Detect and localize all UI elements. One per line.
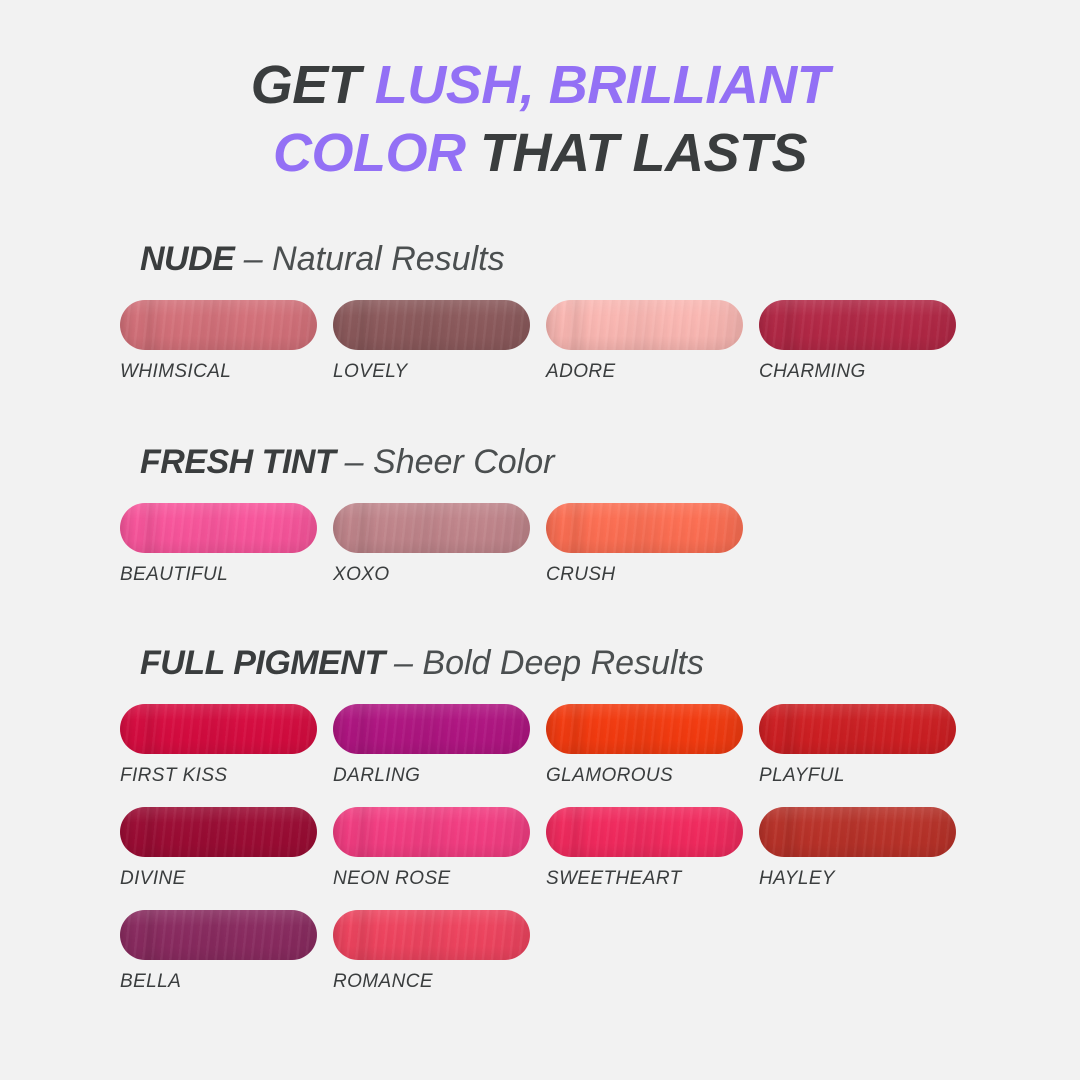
section-nude: NUDE – Natural Results WHIMSICAL LOVELY … [120,242,1020,403]
swatch-cell-sweetheart[interactable]: SWEETHEART [546,807,743,890]
swatch-label: HAYLEY [759,868,956,890]
swatch-label: FIRST KISS [120,765,317,787]
swatch-label: CHARMING [759,361,956,383]
swatch-label: ROMANCE [333,971,530,993]
swatch-sheen-overlay [120,910,317,960]
swatch-label: DIVINE [120,868,317,890]
section-title-full-pigment: FULL PIGMENT – Bold Deep Results [140,646,1020,680]
swatch-cell-romance[interactable]: ROMANCE [333,910,530,993]
swatch-cell-whimsical[interactable]: WHIMSICAL [120,300,317,383]
color-swatch[interactable] [333,910,530,960]
section-fresh-tint: FRESH TINT – Sheer Color BEAUTIFUL XOXO … [120,445,1020,606]
headline-word-get: GET [251,55,375,115]
color-swatch[interactable] [120,300,317,350]
color-swatch[interactable] [120,704,317,754]
color-swatch[interactable] [546,300,743,350]
color-swatch[interactable] [333,807,530,857]
swatch-label: ADORE [546,361,743,383]
swatch-cell-neon-rose[interactable]: NEON ROSE [333,807,530,890]
color-swatch[interactable] [120,807,317,857]
swatch-sheen-overlay [333,704,530,754]
swatch-cell-lovely[interactable]: LOVELY [333,300,530,383]
swatch-row: FIRST KISS DARLING GLAMOROUS PLAYFUL [120,704,1020,787]
section-separator: – [335,443,373,481]
color-swatch[interactable] [333,300,530,350]
swatch-cell-glamorous[interactable]: GLAMOROUS [546,704,743,787]
section-category-label: FULL PIGMENT [140,644,385,682]
section-full-pigment: FULL PIGMENT – Bold Deep Results FIRST K… [120,646,1020,1013]
section-description-label: Natural Results [272,240,504,278]
swatch-sheen-overlay [333,300,530,350]
swatch-label: NEON ROSE [333,868,530,890]
swatch-cell-hayley[interactable]: HAYLEY [759,807,956,890]
color-swatch[interactable] [759,704,956,754]
swatch-cell-crush[interactable]: CRUSH [546,503,743,586]
section-category-label: FRESH TINT [140,443,335,481]
swatch-sheen-overlay [120,300,317,350]
swatch-label: GLAMOROUS [546,765,743,787]
swatch-cell-playful[interactable]: PLAYFUL [759,704,956,787]
swatch-sheen-overlay [120,807,317,857]
color-swatch[interactable] [120,503,317,553]
color-swatch[interactable] [759,807,956,857]
swatch-cell-first-kiss[interactable]: FIRST KISS [120,704,317,787]
swatch-label: BEAUTIFUL [120,564,317,586]
swatch-label: WHIMSICAL [120,361,317,383]
color-swatch[interactable] [333,503,530,553]
swatch-sheen-overlay [546,704,743,754]
swatch-label: SWEETHEART [546,868,743,890]
swatch-sheen-overlay [759,300,956,350]
section-description-label: Sheer Color [373,443,554,481]
swatch-label: LOVELY [333,361,530,383]
swatch-label: CRUSH [546,564,743,586]
swatch-row: WHIMSICAL LOVELY ADORE CHARMING [120,300,1020,383]
swatch-sheen-overlay [759,807,956,857]
swatch-sheen-overlay [333,807,530,857]
color-swatch[interactable] [759,300,956,350]
swatch-label: XOXO [333,564,530,586]
section-separator: – [234,240,272,278]
page-headline: GET LUSH, BRILLIANT COLOR THAT LASTS [0,52,1080,187]
section-category-label: NUDE [140,240,234,278]
swatch-row: DIVINE NEON ROSE SWEETHEART HAYLEY [120,807,1020,890]
swatch-cell-beautiful[interactable]: BEAUTIFUL [120,503,317,586]
swatch-row: BEAUTIFUL XOXO CRUSH [120,503,1020,586]
headline-line-2: COLOR THAT LASTS [0,120,1080,188]
headline-words-that-lasts: THAT LASTS [480,123,807,183]
section-title-nude: NUDE – Natural Results [140,242,1020,276]
color-swatch[interactable] [333,704,530,754]
headline-line-1: GET LUSH, BRILLIANT [0,52,1080,120]
lipstick-shade-chart: GET LUSH, BRILLIANT COLOR THAT LASTS NUD… [0,0,1080,1080]
swatch-cell-darling[interactable]: DARLING [333,704,530,787]
swatch-label: DARLING [333,765,530,787]
headline-accent-lush-brilliant: LUSH, BRILLIANT [375,55,829,115]
swatch-row: BELLA ROMANCE [120,910,1020,993]
swatch-cell-divine[interactable]: DIVINE [120,807,317,890]
headline-accent-color: COLOR [273,123,480,183]
swatch-cell-bella[interactable]: BELLA [120,910,317,993]
color-swatch[interactable] [546,704,743,754]
swatch-sheen-overlay [546,300,743,350]
swatch-cell-charming[interactable]: CHARMING [759,300,956,383]
swatch-sheen-overlay [333,503,530,553]
color-swatch[interactable] [546,807,743,857]
swatch-sheen-overlay [333,910,530,960]
swatch-sheen-overlay [120,503,317,553]
color-swatch[interactable] [120,910,317,960]
section-description-label: Bold Deep Results [422,644,704,682]
swatch-label: PLAYFUL [759,765,956,787]
section-separator: – [385,644,423,682]
color-swatch[interactable] [546,503,743,553]
swatch-label: BELLA [120,971,317,993]
swatch-sheen-overlay [120,704,317,754]
section-title-fresh-tint: FRESH TINT – Sheer Color [140,445,1020,479]
swatch-cell-adore[interactable]: ADORE [546,300,743,383]
swatch-sheen-overlay [546,503,743,553]
swatch-sheen-overlay [759,704,956,754]
swatch-cell-xoxo[interactable]: XOXO [333,503,530,586]
swatch-sheen-overlay [546,807,743,857]
